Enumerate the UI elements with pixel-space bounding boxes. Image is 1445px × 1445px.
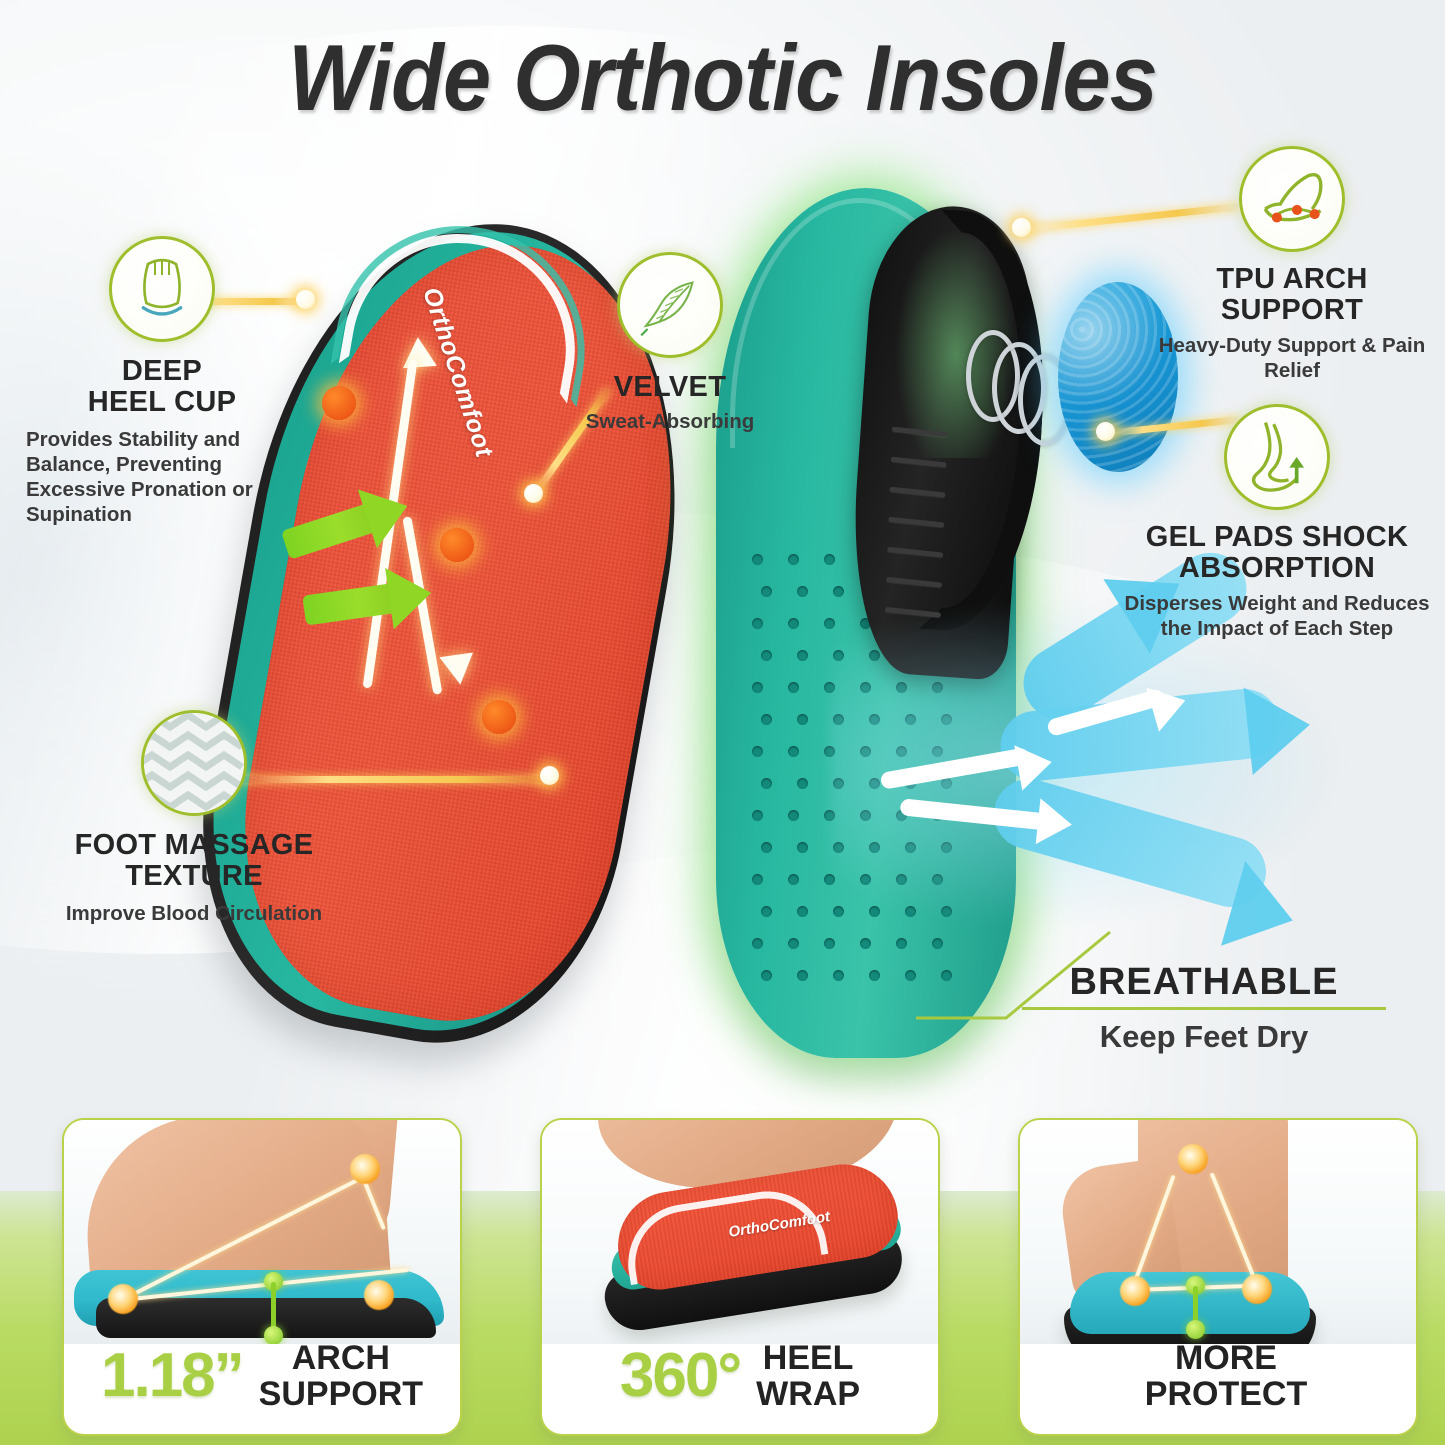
feature-subtitle-massage: Improve Blood Circulation	[34, 901, 354, 926]
feature-subtitle-tpu: Heavy-Duty Support & Pain Relief	[1146, 333, 1438, 383]
infographic-canvas: Wide Orthotic Insoles OrthoComfoot	[0, 0, 1445, 1445]
feature-title-gel-line1: GEL PADS SHOCK	[1112, 522, 1442, 553]
support-arrow-down-icon	[439, 653, 477, 687]
card-more-protect[interactable]: MORE PROTECT	[1018, 1118, 1418, 1436]
support-arrow-up-icon	[401, 336, 437, 368]
feature-tpu-arch-support: TPU ARCH SUPPORT Heavy-Duty Support & Pa…	[1146, 146, 1438, 383]
page-title: Wide Orthotic Insoles	[58, 24, 1387, 132]
card-label-heel-wrap-line1: HEEL	[756, 1340, 860, 1376]
feature-subtitle-gel: Disperses Weight and Reduces the Impact …	[1112, 591, 1442, 641]
protect-hotspot-left	[1120, 1276, 1150, 1306]
feather-icon	[617, 252, 723, 358]
feature-title-tpu-line2: SUPPORT	[1146, 295, 1438, 326]
feature-gel-pads: GEL PADS SHOCK ABSORPTION Disperses Weig…	[1112, 404, 1442, 641]
feature-foot-massage: FOOT MASSAGE TEXTURE Improve Blood Circu…	[34, 710, 354, 926]
card-arch-support[interactable]: 1.18” ARCH SUPPORT	[62, 1118, 462, 1436]
card-label-more-protect-line2: PROTECT	[1145, 1376, 1307, 1412]
pressure-hotspot-toe	[108, 1284, 138, 1314]
card-caption-more-protect: MORE PROTECT	[1020, 1324, 1416, 1428]
card-photo-heel-wrap: OrthoComfoot	[542, 1120, 938, 1344]
card-label-more-protect-line1: MORE	[1145, 1340, 1307, 1376]
pressure-node-arch	[440, 528, 474, 562]
feature-title-massage-line1: FOOT MASSAGE	[34, 830, 354, 861]
card-heel-wrap[interactable]: OrthoComfoot 360° HEEL WRAP	[540, 1118, 940, 1436]
card-caption-arch-support: 1.18” ARCH SUPPORT	[64, 1324, 460, 1428]
card-metric-heel-wrap: 360°	[620, 1347, 740, 1406]
zigzag-texture-icon	[141, 710, 247, 816]
card-label-arch-support-line2: SUPPORT	[259, 1376, 423, 1412]
card-photo-more-protect	[1020, 1120, 1416, 1344]
feature-velvet: VELVET Sweat-Absorbing	[558, 252, 782, 434]
pressure-hotspot-ankle	[350, 1154, 380, 1184]
protect-hotspot-right	[1242, 1274, 1272, 1304]
connector-dot-velvet	[524, 484, 543, 503]
card-label-arch-support-line1: ARCH	[259, 1340, 423, 1376]
breathable-underline	[1022, 1007, 1386, 1010]
benefit-card-row: 1.18” ARCH SUPPORT OrthoComfoot 360°	[0, 1114, 1445, 1445]
pressure-node-forefoot	[322, 386, 356, 420]
feature-title-deep-heel-cup-line1: DEEP	[22, 356, 302, 387]
card-photo-arch-support	[64, 1120, 460, 1344]
heel-cup-icon	[109, 236, 215, 342]
pressure-node-heel	[482, 700, 516, 734]
feature-title-massage-line2: TEXTURE	[34, 861, 354, 892]
feature-deep-heel-cup: DEEP HEEL CUP Provides Stability and Bal…	[22, 236, 302, 527]
protect-hotspot-top	[1178, 1144, 1208, 1174]
card-label-heel-wrap-line2: WRAP	[756, 1376, 860, 1412]
connector-dot-foot-massage	[540, 766, 559, 785]
feature-subtitle-breathable: Keep Feet Dry	[1014, 1018, 1394, 1056]
feature-title-gel-line2: ABSORPTION	[1112, 553, 1442, 584]
pressure-hotspot-heel	[364, 1280, 394, 1310]
connector-dot-tpu-arch	[1012, 218, 1031, 237]
feature-subtitle-deep-heel-cup: Provides Stability and Balance, Preventi…	[22, 427, 302, 527]
feature-subtitle-velvet: Sweat-Absorbing	[558, 409, 782, 434]
feature-title-velvet: VELVET	[558, 372, 782, 403]
arch-foot-icon	[1239, 146, 1345, 252]
card-caption-heel-wrap: 360° HEEL WRAP	[542, 1324, 938, 1428]
card-metric-arch-support: 1.18”	[101, 1347, 243, 1406]
feature-breathable: BREATHABLE Keep Feet Dry	[1014, 962, 1394, 1056]
feature-title-breathable: BREATHABLE	[1014, 962, 1394, 1003]
airflow-mist	[830, 600, 1350, 930]
feature-title-tpu-line1: TPU ARCH	[1146, 264, 1438, 295]
feature-title-deep-heel-cup-line2: HEEL CUP	[22, 387, 302, 418]
foot-up-arrow-icon	[1224, 404, 1330, 510]
